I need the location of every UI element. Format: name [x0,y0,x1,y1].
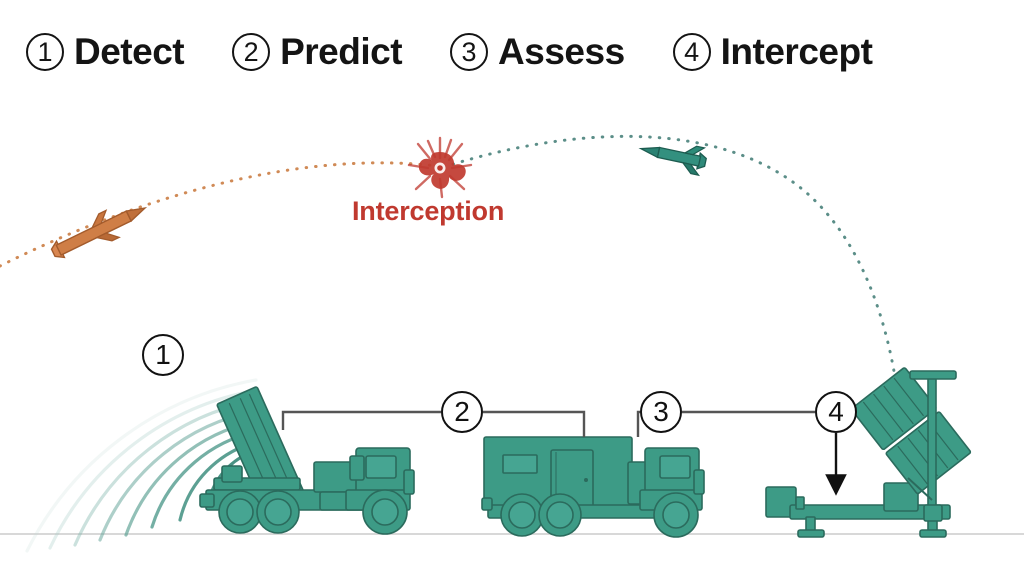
connector-lines-layer [0,0,1024,576]
diagram-canvas: 1 Detect 2 Predict 3 Assess 4 Intercept [0,0,1024,576]
badge-step-4: 4 [815,391,857,433]
connector-lines [283,412,815,437]
badge-step-3: 3 [640,391,682,433]
badge-step-2: 2 [441,391,483,433]
badge-step-1: 1 [142,334,184,376]
